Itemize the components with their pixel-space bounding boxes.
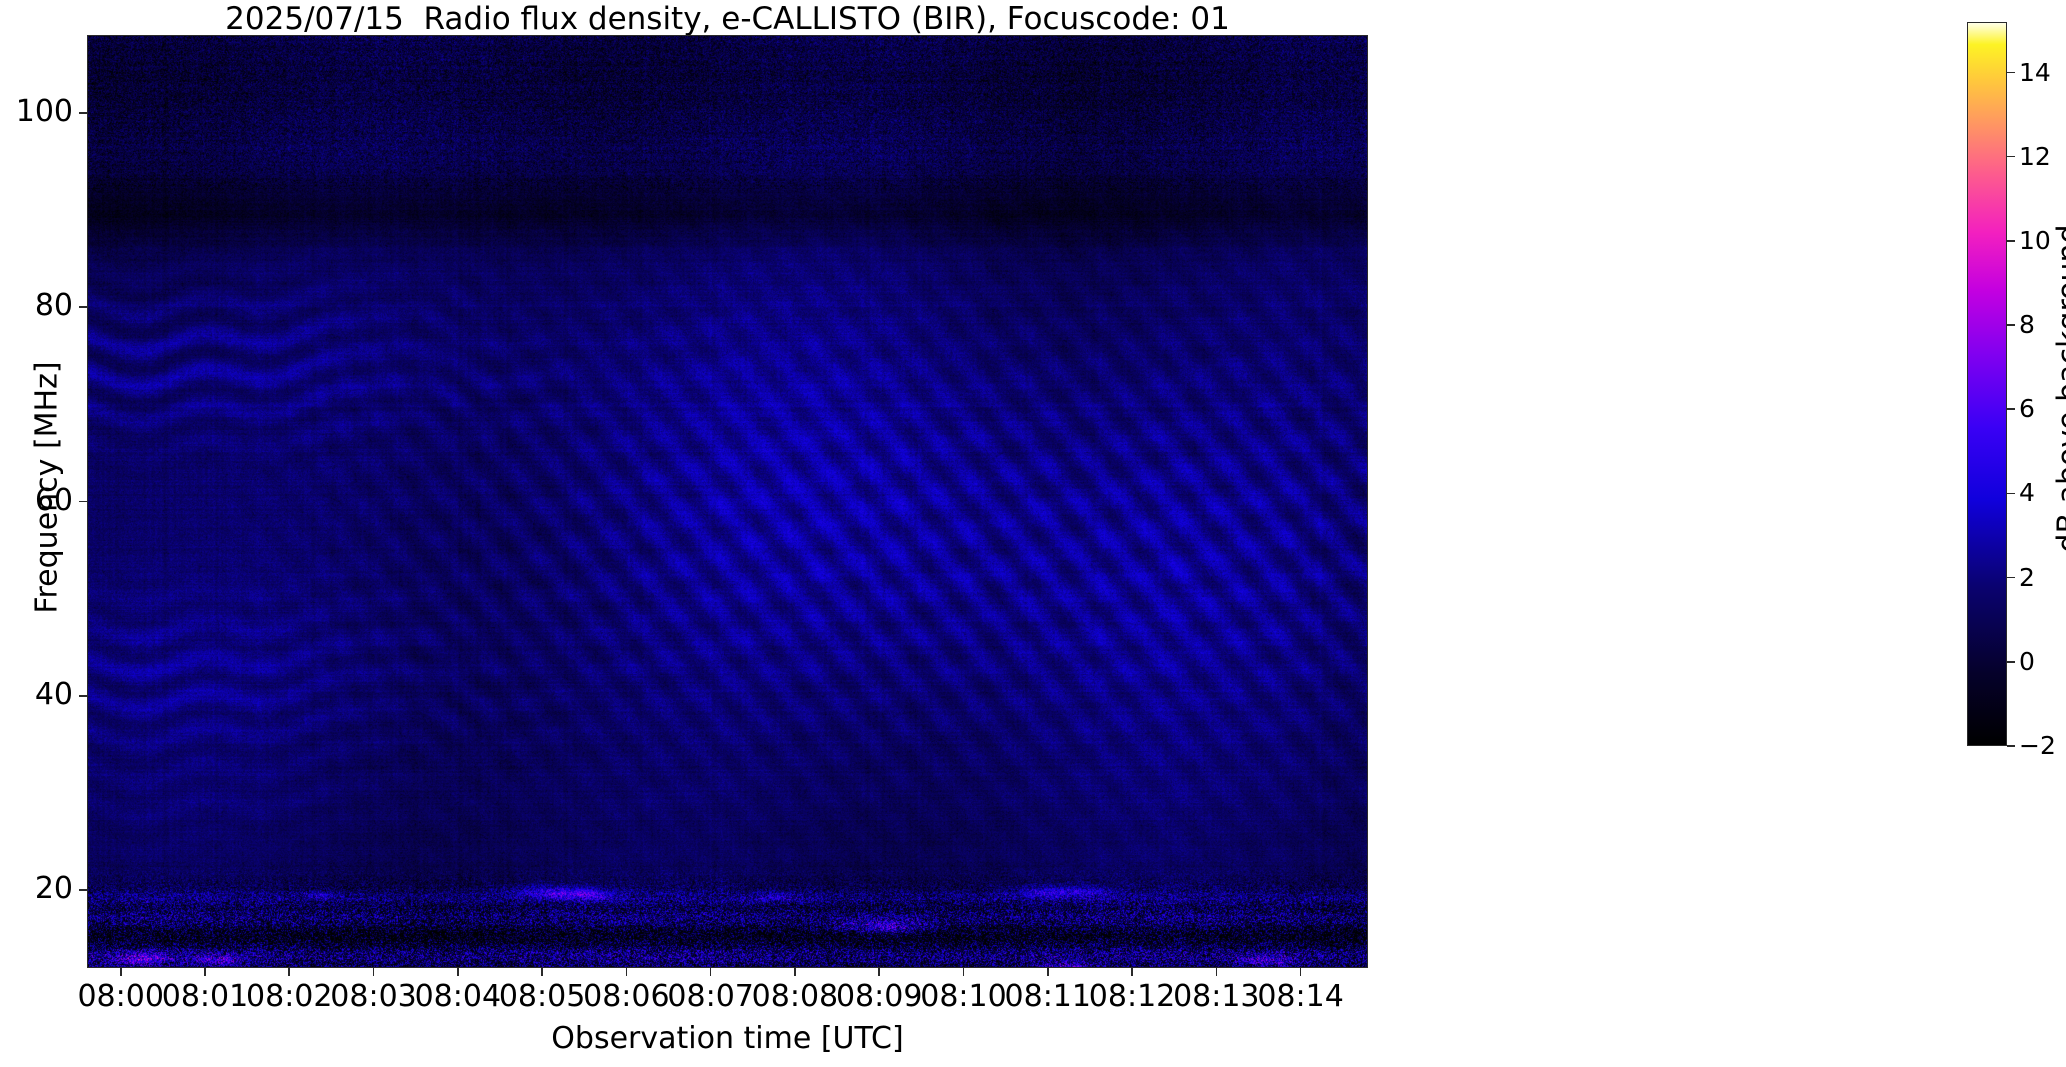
x-tick-mark <box>1047 968 1049 976</box>
colorbar-tick-label: 12 <box>2019 144 2051 169</box>
colorbar-tick-mark <box>2007 745 2015 747</box>
y-tick-mark <box>79 889 87 891</box>
colorbar-tick-mark <box>2007 324 2015 326</box>
colorbar-tick-label: 2 <box>2019 565 2035 590</box>
x-tick-mark <box>1131 968 1133 976</box>
x-tick-mark <box>878 968 880 976</box>
colorbar-tick-label: 0 <box>2019 649 2035 674</box>
colorbar-tick-mark <box>2007 577 2015 579</box>
x-tick-label: 08:14 <box>1221 981 1381 1013</box>
x-tick-mark <box>120 968 122 976</box>
x-tick-mark <box>288 968 290 976</box>
colorbar-tick-mark <box>2007 493 2015 495</box>
colorbar-tick-mark <box>2007 72 2015 74</box>
x-tick-mark <box>963 968 965 976</box>
figure-canvas: 2025/07/15 Radio flux density, e-CALLIST… <box>0 0 2066 1067</box>
y-tick-label: 80 <box>1 291 73 321</box>
y-tick-mark <box>79 695 87 697</box>
x-tick-mark <box>794 968 796 976</box>
colorbar-tick-label: 6 <box>2019 396 2035 421</box>
colorbar-tick-mark <box>2007 240 2015 242</box>
x-tick-mark <box>204 968 206 976</box>
y-tick-mark <box>79 306 87 308</box>
y-tick-label: 40 <box>1 680 73 710</box>
y-tick-label: 100 <box>1 97 73 127</box>
x-tick-mark <box>373 968 375 976</box>
y-tick-label: 60 <box>1 486 73 516</box>
colorbar-tick-mark <box>2007 661 2015 663</box>
x-tick-mark <box>1216 968 1218 976</box>
y-tick-label: 20 <box>1 874 73 904</box>
colorbar[interactable] <box>1967 22 2007 746</box>
y-tick-mark <box>79 501 87 503</box>
y-tick-mark <box>79 112 87 114</box>
x-tick-mark <box>710 968 712 976</box>
colorbar-tick-label: −2 <box>2019 733 2056 758</box>
page-title: 2025/07/15 Radio flux density, e-CALLIST… <box>87 2 1368 36</box>
x-tick-mark <box>457 968 459 976</box>
x-tick-mark <box>626 968 628 976</box>
colorbar-tick-label: 10 <box>2019 228 2051 253</box>
spectrogram-axes[interactable] <box>87 35 1368 968</box>
colorbar-tick-label: 14 <box>2019 60 2051 85</box>
colorbar-tick-label: 4 <box>2019 480 2035 505</box>
x-tick-mark <box>541 968 543 976</box>
colorbar-label: dB above background <box>2052 39 2066 739</box>
colorbar-tick-mark <box>2007 156 2015 158</box>
spectrogram-image <box>88 36 1368 968</box>
colorbar-gradient-fill <box>1968 23 2006 745</box>
colorbar-tick-mark <box>2007 408 2015 410</box>
colorbar-tick-label: 8 <box>2019 312 2035 337</box>
x-tick-mark <box>1300 968 1302 976</box>
x-axis-label: Observation time [UTC] <box>87 1021 1368 1056</box>
